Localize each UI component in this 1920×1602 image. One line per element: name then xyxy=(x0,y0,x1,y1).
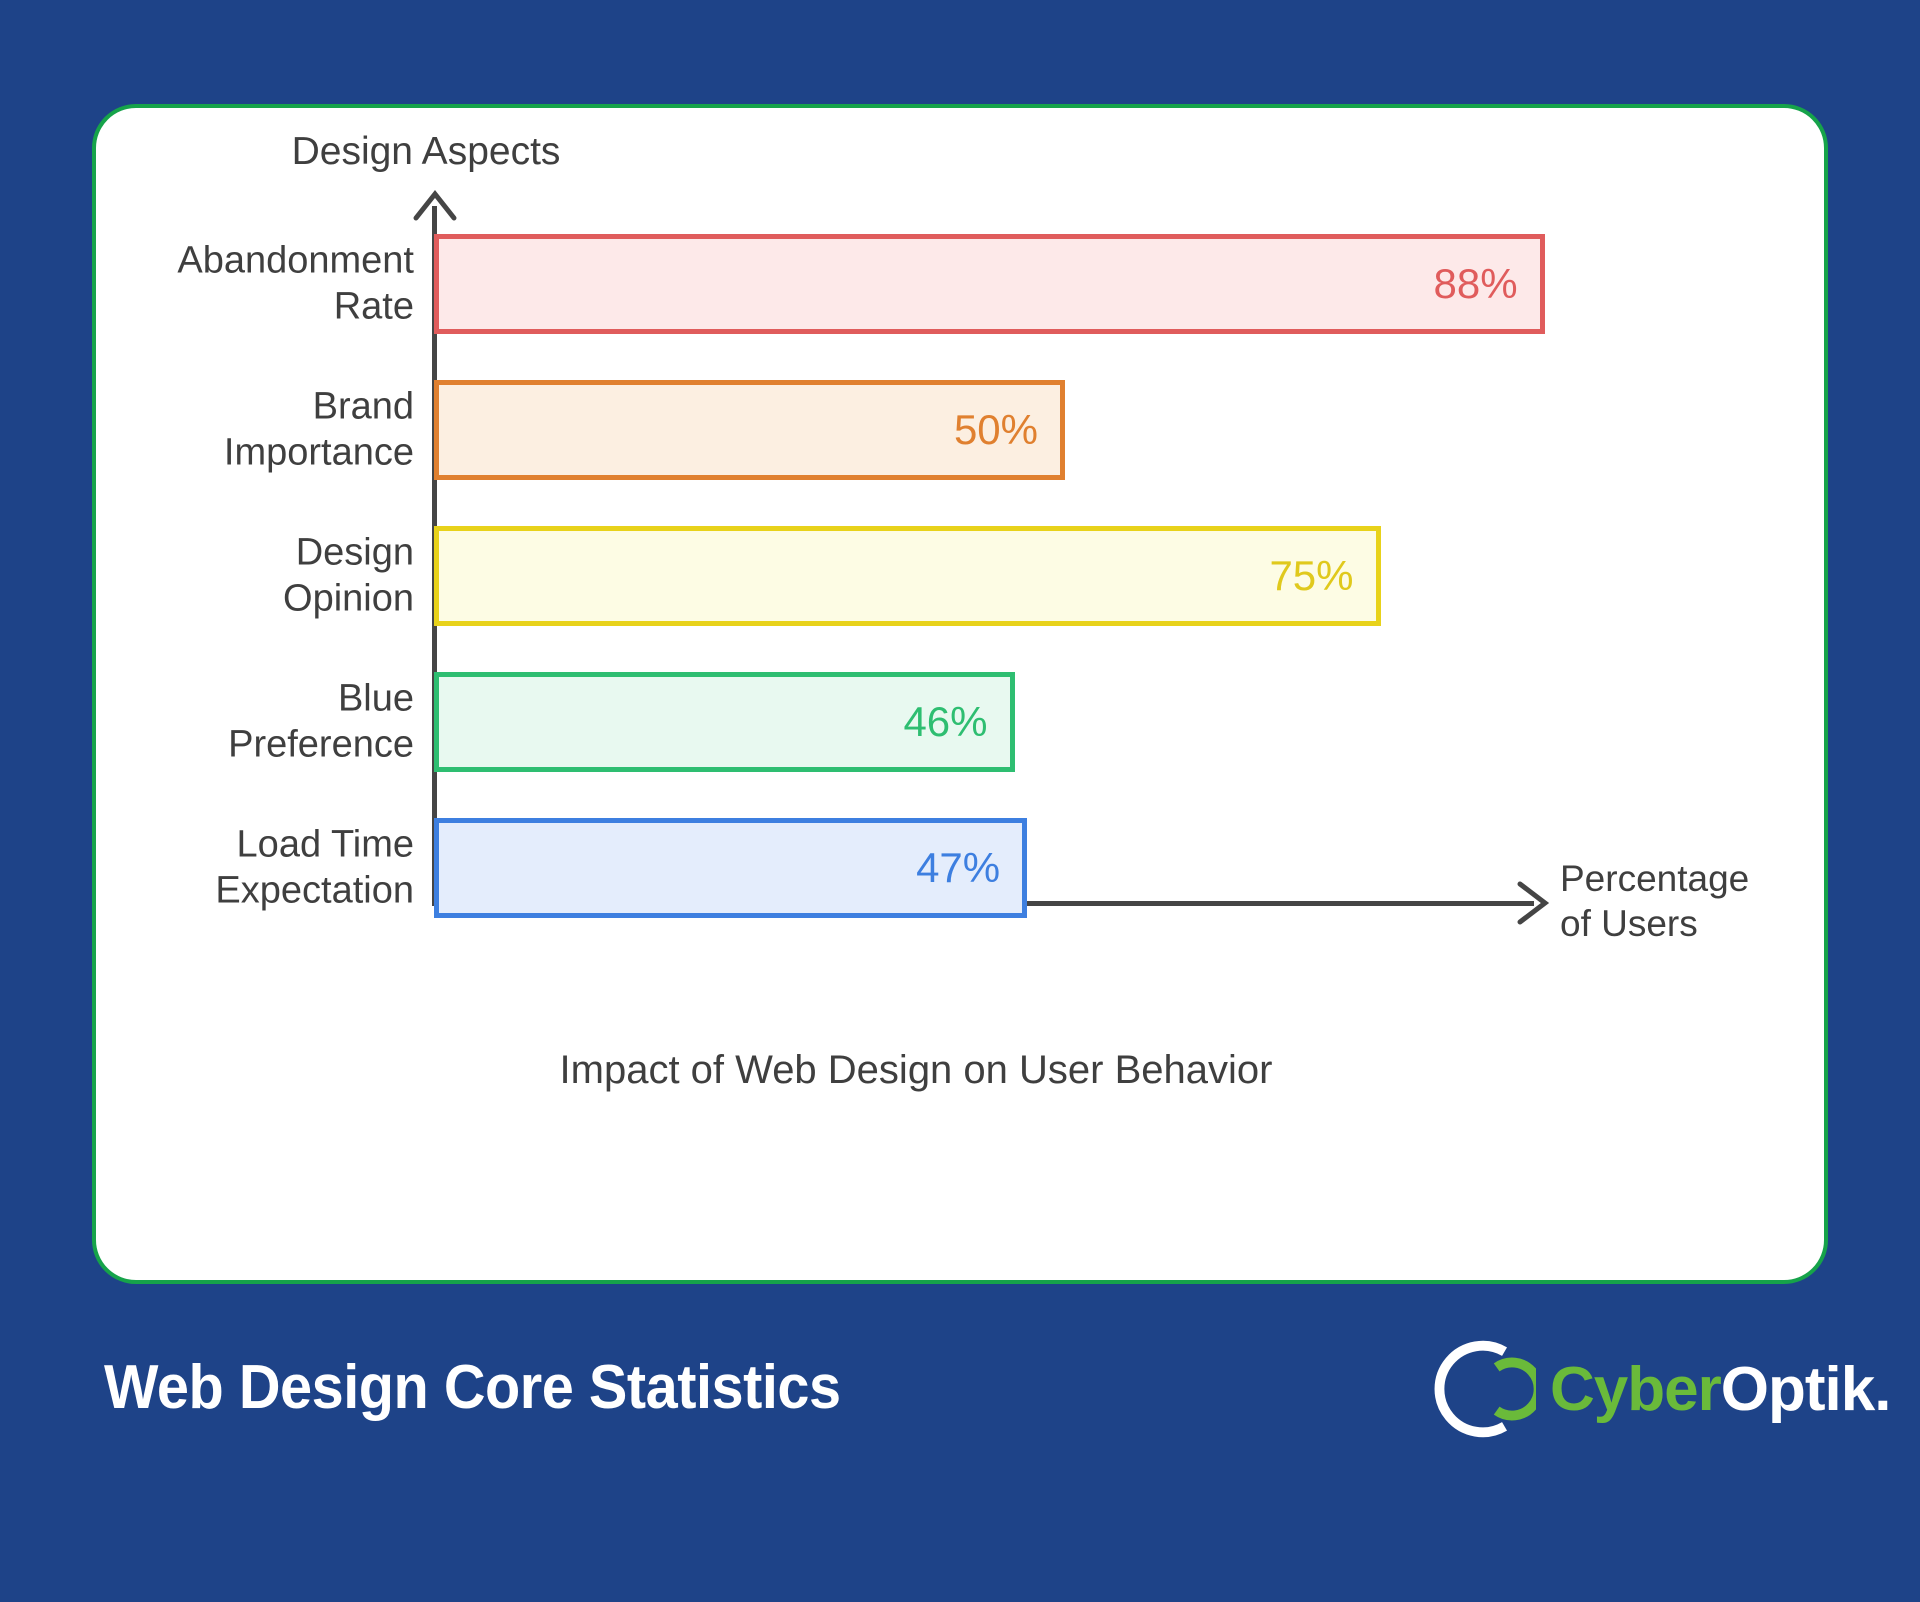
bar-value-label: 46% xyxy=(903,698,1009,746)
bar-category-label-line: Importance xyxy=(0,430,414,476)
bar-category-label: AbandonmentRate xyxy=(0,238,414,331)
chart-caption: Impact of Web Design on User Behavior xyxy=(96,1048,1736,1093)
brand-logo-text: CyberOptik. xyxy=(1550,1354,1890,1425)
y-axis-arrow-icon xyxy=(412,188,458,222)
bar-category-label-line: Design xyxy=(0,530,414,576)
bar-abandonment-rate[interactable]: 88% xyxy=(434,234,1545,334)
bar-category-label-line: Blue xyxy=(0,676,414,722)
chart-card: Design Aspects Percentage of Users Impac… xyxy=(92,104,1828,1284)
bar-row: Load TimeExpectation47% xyxy=(96,818,1824,918)
bar-blue-preference[interactable]: 46% xyxy=(434,672,1015,772)
bar-category-label-line: Preference xyxy=(0,722,414,768)
bar-category-label-line: Opinion xyxy=(0,576,414,622)
bar-value-label: 88% xyxy=(1433,260,1539,308)
bar-category-label: DesignOpinion xyxy=(0,530,414,623)
bar-design-opinion[interactable]: 75% xyxy=(434,526,1381,626)
bar-row: AbandonmentRate88% xyxy=(96,234,1824,334)
brand-logo[interactable]: CyberOptik. xyxy=(1418,1330,1890,1448)
bar-category-label-line: Abandonment xyxy=(0,238,414,284)
bar-category-label-line: Load Time xyxy=(0,822,414,868)
footer: Web Design Core Statistics CyberOptik. xyxy=(0,1300,1920,1602)
brand-name-part2: Optik. xyxy=(1721,1355,1891,1424)
page-title: Web Design Core Statistics xyxy=(104,1352,841,1423)
bar-value-label: 47% xyxy=(916,844,1022,892)
bar-category-label-line: Brand xyxy=(0,384,414,430)
circular-arc-logo-icon xyxy=(1418,1330,1536,1448)
bar-row: BluePreference46% xyxy=(96,672,1824,772)
bar-category-label: BluePreference xyxy=(0,676,414,769)
bar-category-label: BrandImportance xyxy=(0,384,414,477)
bar-value-label: 75% xyxy=(1269,552,1375,600)
bar-brand-importance[interactable]: 50% xyxy=(434,380,1065,480)
brand-name-part1: Cyber xyxy=(1550,1355,1721,1424)
bar-category-label: Load TimeExpectation xyxy=(0,822,414,915)
bar-category-label-line: Expectation xyxy=(0,868,414,914)
bar-load-time-expectation[interactable]: 47% xyxy=(434,818,1027,918)
bar-category-label-line: Rate xyxy=(0,284,414,330)
bar-row: BrandImportance50% xyxy=(96,380,1824,480)
bar-value-label: 50% xyxy=(954,406,1060,454)
y-axis-title: Design Aspects xyxy=(226,130,626,174)
bar-chart: Design Aspects Percentage of Users Impac… xyxy=(96,108,1824,1280)
bar-row: DesignOpinion75% xyxy=(96,526,1824,626)
